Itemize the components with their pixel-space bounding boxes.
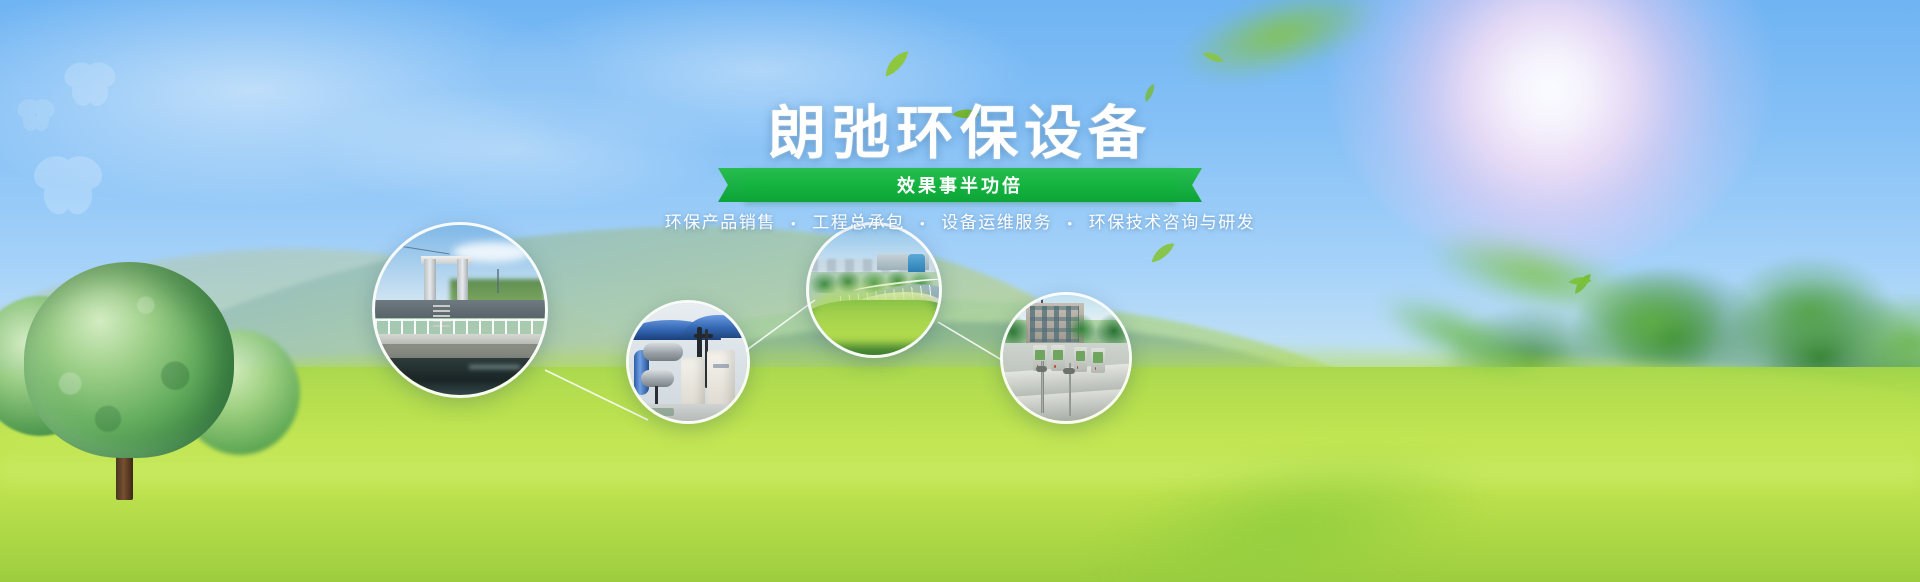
bullet-separator-icon: • (1068, 216, 1074, 231)
big-tree (24, 262, 254, 492)
tree-row (1003, 303, 1129, 348)
tree-crown (24, 262, 234, 458)
photo-scene (1003, 295, 1129, 421)
photo-scene (375, 225, 545, 395)
cabinet-label-plate (713, 364, 729, 368)
hero-banner: 朗弛环保设备 效果事半功倍 环保产品销售 • 工程总承包 • 设备运维服务 • … (0, 0, 1920, 582)
service-item-0: 环保产品销售 (665, 213, 776, 232)
slogan-ribbon: 效果事半功倍 (744, 168, 1176, 202)
photo-wastewater-sedimentation-tank[interactable] (372, 222, 548, 398)
service-list: 环保产品销售 • 工程总承包 • 设备运维服务 • 环保技术咨询与研发 (0, 208, 1920, 233)
service-item-2: 设备运维服务 (941, 213, 1052, 232)
slogan-text: 效果事半功倍 (897, 172, 1023, 198)
photo-scene (629, 303, 747, 421)
control-cabinet (1074, 347, 1088, 372)
photo-circular-clarifier-landscape[interactable] (806, 222, 942, 358)
control-cabinet (1051, 345, 1065, 370)
leaf-icon (878, 49, 915, 80)
bullet-separator-icon: • (920, 216, 926, 231)
photo-treatment-control-cabinets[interactable] (1000, 292, 1132, 424)
blower-cabinet-right (707, 350, 735, 411)
cylinder-vessel-upper (643, 343, 683, 361)
page-title: 朗弛环保设备 (0, 86, 1920, 170)
hand-wheel (1036, 366, 1047, 372)
cylinder-vessel-lower (641, 370, 674, 387)
tank-water (375, 358, 545, 395)
control-cabinet (1091, 348, 1105, 373)
service-item-1: 工程总承包 (812, 213, 905, 232)
plant-wall (375, 300, 545, 319)
blower-cabinet-left (681, 357, 705, 409)
hand-wheel (1063, 368, 1074, 374)
bullet-separator-icon: • (791, 216, 797, 231)
ribbon-container: 效果事半功倍 (0, 168, 1920, 202)
service-item-3: 环保技术咨询与研发 (1089, 213, 1256, 232)
transmission-tower (497, 269, 499, 293)
photo-blue-pipe-blower-equipment[interactable] (626, 300, 750, 424)
lawn (806, 300, 942, 355)
floor-mat (638, 408, 673, 416)
leaf-icon (1146, 241, 1179, 265)
photo-scene (809, 225, 939, 355)
